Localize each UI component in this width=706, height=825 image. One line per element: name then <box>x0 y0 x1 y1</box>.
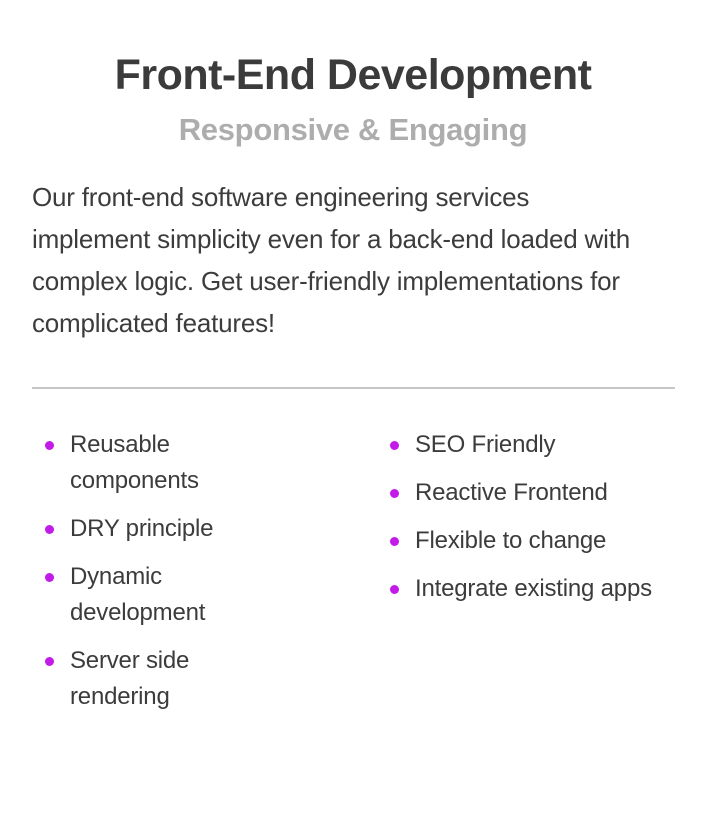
bullet-dot-icon <box>45 525 54 534</box>
list-item-label: Flexible to change <box>415 527 606 554</box>
feature-column-left: Reusable components DRY principle Dynami… <box>0 427 355 727</box>
bullet-dot-icon <box>45 441 54 450</box>
list-item: Reactive Frontend <box>385 475 665 511</box>
feature-list-right: SEO Friendly Reactive Frontend Flexible … <box>385 427 706 607</box>
list-item-label: Server side rendering <box>70 647 189 710</box>
feature-columns: Reusable components DRY principle Dynami… <box>0 389 706 727</box>
list-item: Integrate existing apps <box>385 571 665 607</box>
bullet-dot-icon <box>390 489 399 498</box>
bullet-dot-icon <box>45 573 54 582</box>
list-item: DRY principle <box>40 511 250 547</box>
list-item-label: SEO Friendly <box>415 431 555 458</box>
bullet-dot-icon <box>390 585 399 594</box>
page-header: Front-End Development Responsive & Engag… <box>0 0 706 150</box>
list-item-label: DRY principle <box>70 515 213 542</box>
list-item: SEO Friendly <box>385 427 665 463</box>
feature-list-left: Reusable components DRY principle Dynami… <box>40 427 355 715</box>
bullet-dot-icon <box>45 657 54 666</box>
bullet-dot-icon <box>390 537 399 546</box>
list-item-label: Integrate existing apps <box>415 575 652 602</box>
list-item-label: Dynamic development <box>70 563 205 626</box>
page-subtitle: Responsive & Engaging <box>0 110 706 150</box>
feature-column-right: SEO Friendly Reactive Frontend Flexible … <box>355 427 706 619</box>
list-item: Server side rendering <box>40 643 250 715</box>
list-item: Reusable components <box>40 427 250 499</box>
list-item: Flexible to change <box>385 523 665 559</box>
list-item-label: Reactive Frontend <box>415 479 608 506</box>
list-item: Dynamic development <box>40 559 250 631</box>
service-card-page: Front-End Development Responsive & Engag… <box>0 0 706 825</box>
list-item-label: Reusable components <box>70 431 199 494</box>
bullet-dot-icon <box>390 441 399 450</box>
intro-paragraph: Our front-end software engineering servi… <box>0 150 706 344</box>
page-title: Front-End Development <box>0 48 706 102</box>
